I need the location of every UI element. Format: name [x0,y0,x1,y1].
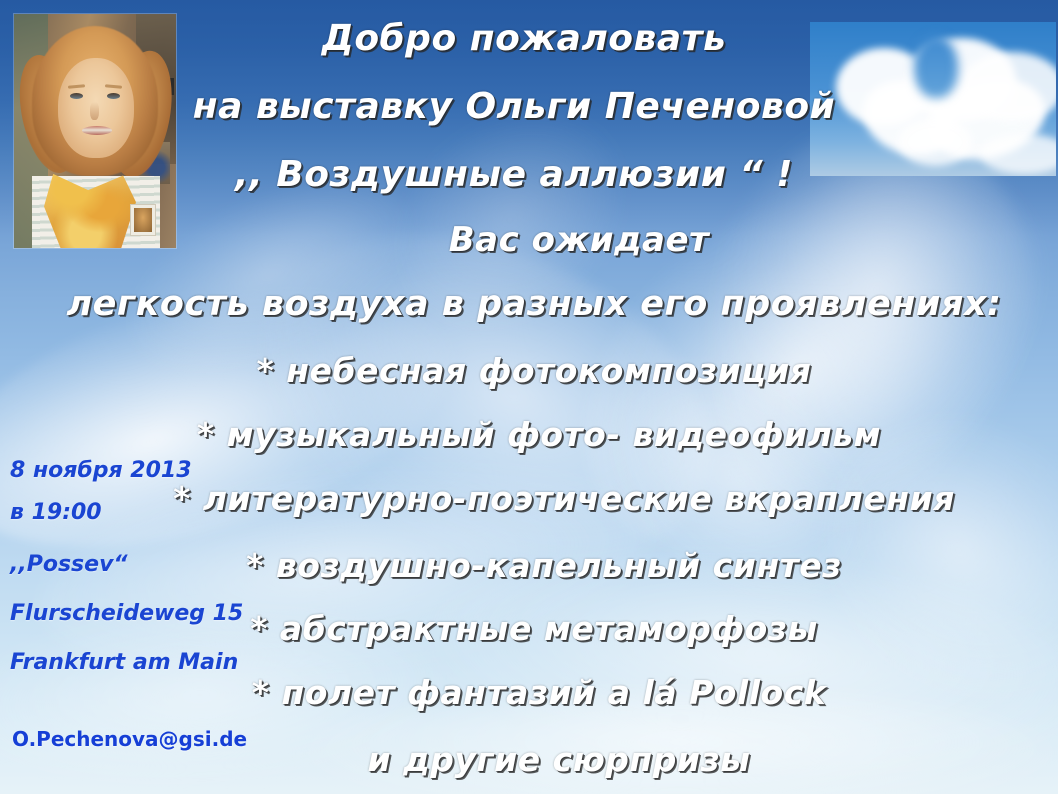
event-date: 8 ноября 2013 [10,458,192,483]
event-time: в 19:00 [10,500,102,525]
bullet-item: * литературно-поэтические вкрапления [0,479,1058,518]
poster-canvas: Добро пожаловать на выставку Ольги Печен… [0,0,1058,794]
event-street: Flurscheideweg 15 [10,601,243,626]
closing-line-clipped: и другие сюрпризы [0,786,1058,794]
bullet-item: * воздушно-капельный синтез [0,546,1058,585]
bullet-item: * музыкальный фото- видеофильм [0,415,1058,454]
intro-await-line: Вас ожидает [0,220,1058,260]
intro-lead-line: легкость воздуха в разных его проявления… [0,284,1058,324]
headline-welcome: Добро пожаловать [0,18,1058,59]
event-city: Frankfurt am Main [10,650,238,675]
bullet-item: * небесная фотокомпозиция [0,351,1058,390]
bullet-item: * полет фантазий а lá Pollock [0,673,1058,712]
contact-email[interactable]: O.Pechenova@gsi.de [12,727,247,751]
headline-exhibition: на выставку Ольги Печеновой [0,86,1058,127]
headline-exhibition-title: ,, Воздушные аллюзии “ ! [0,154,1058,195]
event-venue: ,,Possev“ [10,552,128,577]
portrait-mouth [82,126,112,135]
